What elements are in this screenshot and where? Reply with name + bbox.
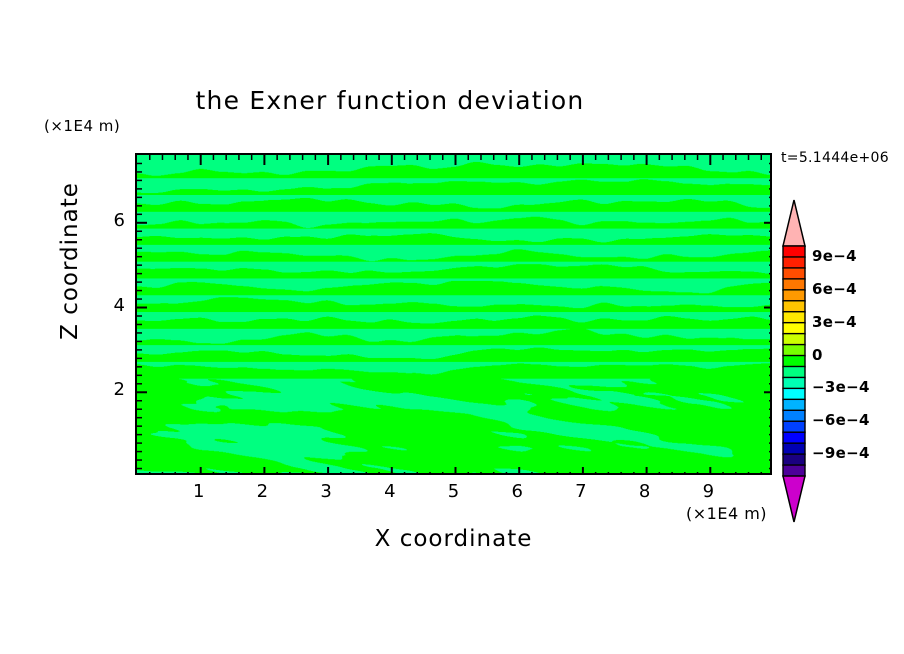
colorbar-tick-label: 6e−4 — [812, 280, 857, 298]
x-tick-label: 5 — [434, 481, 474, 502]
y-tick-label: 4 — [91, 295, 125, 316]
y-axis-unit-label: (×1E4 m) — [44, 117, 120, 135]
x-axis-unit-label: (×1E4 m) — [686, 504, 767, 523]
colorbar[interactable] — [783, 200, 805, 522]
contour-field — [137, 155, 770, 473]
x-tick-label: 6 — [497, 481, 537, 502]
colorbar-tick-label: −9e−4 — [812, 444, 870, 462]
timestamp-label: t=5.1444e+06 — [781, 150, 889, 166]
y-tick-label: 2 — [91, 379, 125, 400]
y-axis-title: Z coordinate — [57, 161, 83, 361]
y-tick-label: 6 — [91, 210, 125, 231]
x-tick-label: 4 — [370, 481, 410, 502]
x-tick-label: 2 — [242, 481, 282, 502]
page-title: the Exner function deviation — [0, 86, 780, 115]
x-tick-label: 7 — [561, 481, 601, 502]
colorbar-tick-label: −3e−4 — [812, 378, 870, 396]
x-tick-label: 1 — [179, 481, 219, 502]
plot-area[interactable] — [135, 153, 772, 475]
x-axis-title: X coordinate — [135, 526, 772, 552]
colorbar-bands — [783, 200, 805, 522]
x-tick-label: 8 — [625, 481, 665, 502]
contour-figure: the Exner function deviation (×1E4 m) t=… — [0, 0, 904, 654]
colorbar-tick-label: 9e−4 — [812, 247, 857, 265]
colorbar-tick-label: 0 — [812, 346, 823, 364]
x-tick-label: 9 — [688, 481, 728, 502]
x-tick-label: 3 — [306, 481, 346, 502]
colorbar-tick-label: −6e−4 — [812, 411, 870, 429]
colorbar-tick-label: 3e−4 — [812, 313, 857, 331]
